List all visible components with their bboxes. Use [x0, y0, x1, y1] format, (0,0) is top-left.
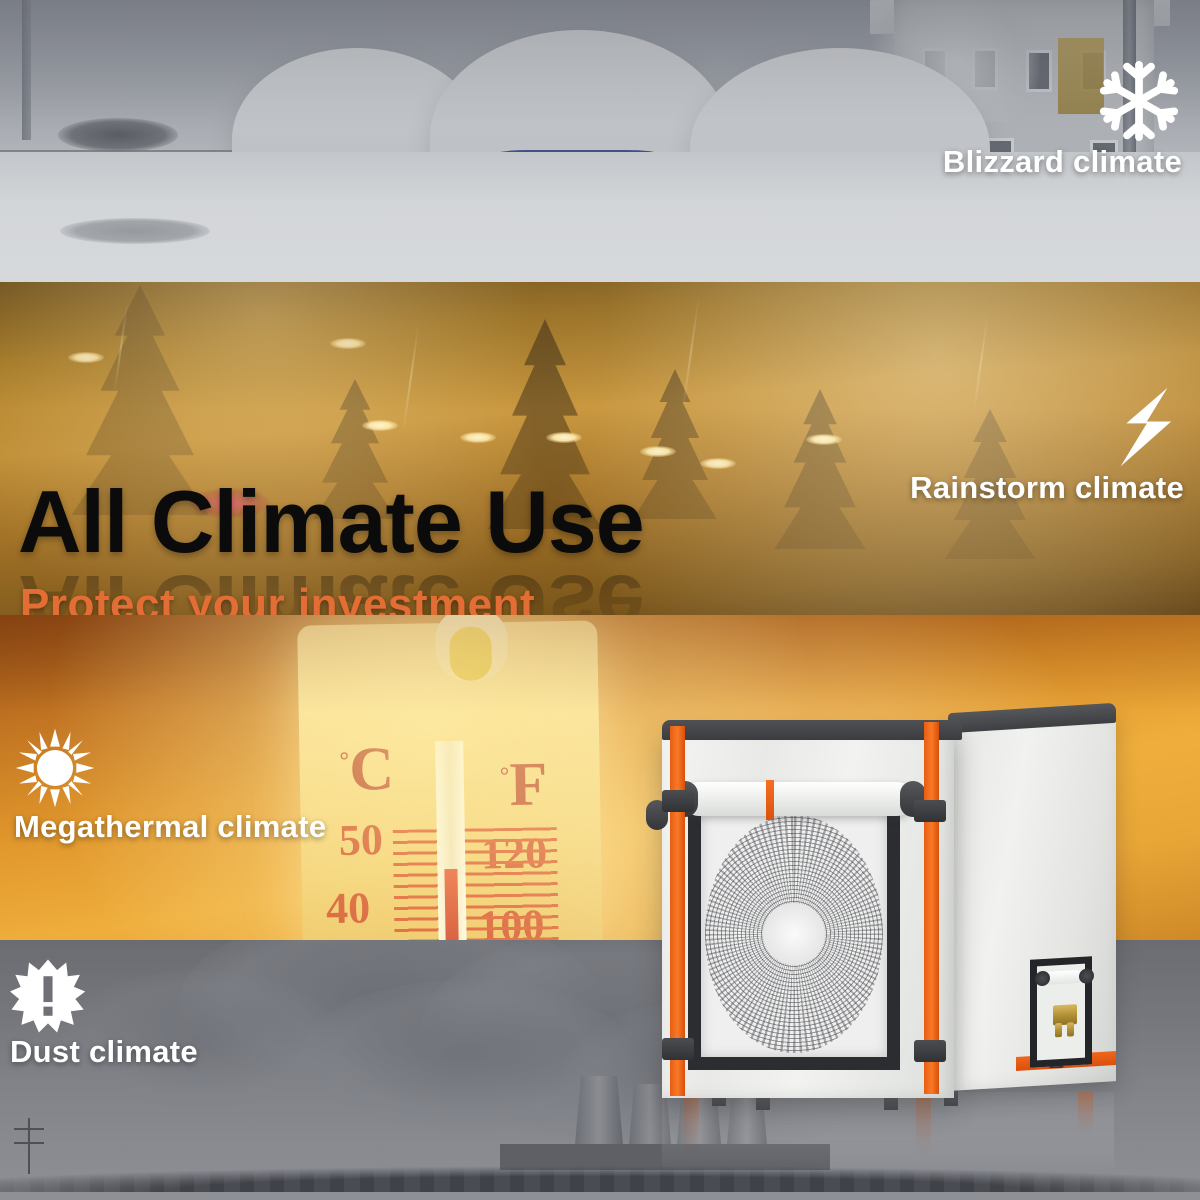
- climate-label-blizzard: Blizzard climate: [943, 58, 1182, 180]
- strap-buckle: [662, 790, 694, 812]
- product-image: [648, 712, 1128, 1110]
- page-title: All Climate Use: [18, 482, 918, 563]
- fan-mesh-window: [688, 798, 900, 1070]
- band-rainstorm: Rainstorm climate All Climate Use All Cl…: [0, 282, 1200, 615]
- cover-top-trim: [662, 720, 962, 740]
- climate-label-dust: Dust climate: [10, 958, 198, 1070]
- lightning-bolt-icon: [1110, 386, 1180, 470]
- valve-access-panel: [1030, 956, 1092, 1067]
- strap-buckle: [914, 1040, 946, 1062]
- climate-label-rainstorm-text: Rainstorm climate: [910, 470, 1184, 506]
- brass-valve-stem: [1067, 1022, 1074, 1036]
- pipe-cap-right: [1079, 968, 1094, 984]
- roll-flap-tie: [766, 780, 774, 820]
- strap-vertical-center: [924, 722, 939, 1094]
- climate-label-rainstorm: Rainstorm climate: [910, 386, 1184, 506]
- page-subtitle: Protect your investment: [20, 580, 535, 615]
- fan-hub: [763, 903, 825, 965]
- strap-buckle: [662, 1038, 694, 1060]
- band-blizzard: Blizzard climate: [0, 0, 1200, 282]
- dust-burst-icon: [10, 958, 86, 1034]
- poster-canvas: Blizzard climate Rainstorm climate: [0, 0, 1200, 1200]
- climate-label-blizzard-text: Blizzard climate: [943, 144, 1182, 180]
- climate-label-dust-text: Dust climate: [10, 1034, 198, 1070]
- strap-buckle: [914, 800, 946, 822]
- brass-valve-stem: [1055, 1023, 1062, 1037]
- snowflake-icon: [1096, 58, 1182, 144]
- roll-up-flap: [682, 782, 914, 816]
- climate-label-megathermal: Megathermal climate: [14, 727, 326, 845]
- climate-label-megathermal-text: Megathermal climate: [14, 809, 326, 845]
- sun-icon: [14, 727, 96, 809]
